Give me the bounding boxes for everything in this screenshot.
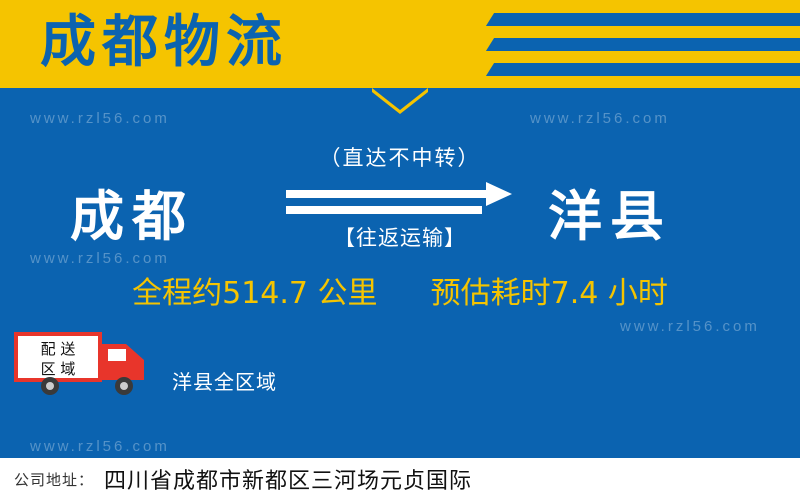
bidirectional-arrow-icon (286, 180, 512, 220)
decorative-stripes (460, 0, 800, 88)
footer-address-bar: 公司地址： 四川省成都市新都区三河场元贞国际 (0, 458, 800, 500)
header-band: 成都物流 (0, 0, 800, 88)
stripe-bar (486, 13, 800, 26)
page-title: 成都物流 (40, 8, 288, 78)
address-value: 四川省成都市新都区三河场元贞国际 (104, 463, 472, 495)
direct-service-note: （直达不中转） (0, 142, 800, 172)
logistics-poster: 成都物流 www.rzl56.com www.rzl56.com www.rzl… (0, 0, 800, 500)
watermark: www.rzl56.com (30, 250, 170, 267)
watermark: www.rzl56.com (30, 438, 170, 455)
route-metrics: 全程约514.7 公里 预估耗时7.4 小时 (0, 268, 800, 312)
watermark: www.rzl56.com (530, 110, 670, 127)
duration-text: 预估耗时7.4 小时 (431, 276, 668, 311)
stripe-bar (486, 63, 800, 76)
watermark: www.rzl56.com (620, 318, 760, 335)
delivery-area-text: 洋县全区域 (172, 366, 277, 395)
watermark: www.rzl56.com (30, 110, 170, 127)
chevron-down-icon (372, 88, 428, 114)
stripe-bar (486, 38, 800, 51)
address-label: 公司地址： (14, 469, 94, 490)
distance-text: 全程约514.7 公里 (132, 276, 377, 311)
svg-text:区 域: 区 域 (41, 360, 76, 378)
round-trip-note: 【往返运输】 (0, 222, 800, 252)
svg-text:配 送: 配 送 (41, 340, 76, 358)
delivery-truck-icon: 配 送 区 域 (14, 330, 160, 398)
